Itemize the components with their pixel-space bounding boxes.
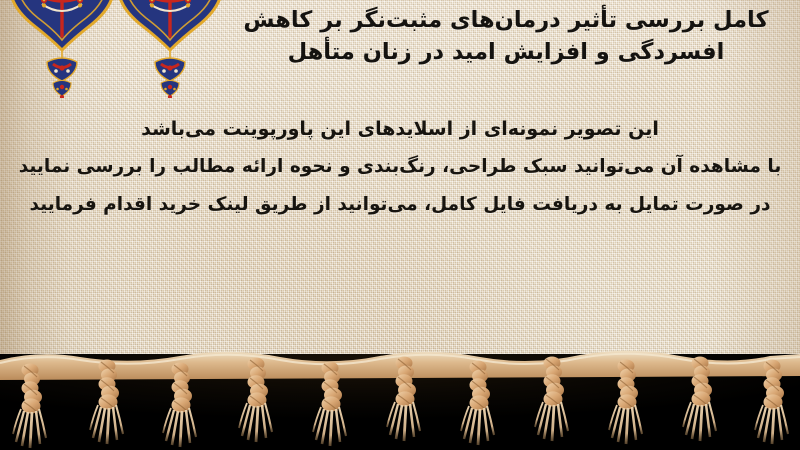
- slide-title-line-2: افسردگی و افزایش امید در زنان متأهل: [226, 36, 786, 68]
- persian-medallion-icon: [116, 0, 224, 98]
- slide-body-text: این تصویر نمونه‌ای از اسلایدهای این پاور…: [16, 110, 784, 224]
- medallion-group: [8, 0, 238, 98]
- slide-title: کامل بررسی تأثیر درمان‌های مثبت‌نگر بر ک…: [226, 4, 786, 68]
- carpet-fringe: [0, 330, 800, 450]
- persian-medallion-icon: [8, 0, 116, 98]
- body-line-sample-notice: این تصویر نمونه‌ای از اسلایدهای این پاور…: [16, 110, 784, 148]
- slide-canvas: کامل بررسی تأثیر درمان‌های مثبت‌نگر بر ک…: [0, 0, 800, 450]
- body-line-design-review: با مشاهده آن می‌توانید سبک طراحی، رنگ‌بن…: [16, 148, 784, 186]
- slide-title-line-1: کامل بررسی تأثیر درمان‌های مثبت‌نگر بر ک…: [226, 4, 786, 36]
- body-line-purchase-link: در صورت تمایل به دریافت فایل کامل، می‌تو…: [16, 186, 784, 224]
